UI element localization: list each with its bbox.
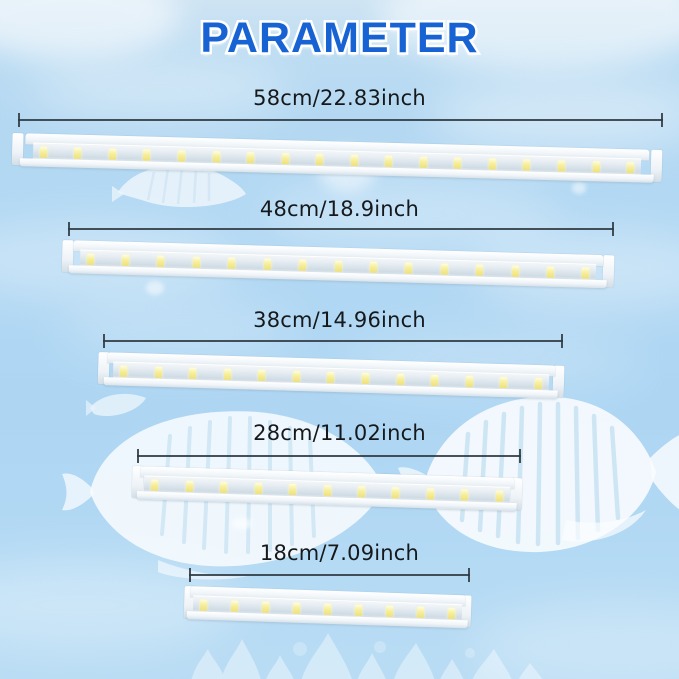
led-chip: [358, 486, 365, 497]
led-chip: [461, 489, 468, 500]
led-chip: [405, 263, 412, 274]
bracket-bar: [137, 455, 521, 457]
led-chip: [489, 158, 496, 169]
led-lamp-18cm: [183, 586, 471, 639]
led-chip: [157, 256, 164, 267]
led-chip: [289, 484, 296, 495]
bracket-cap-right: [612, 222, 614, 236]
led-chip: [592, 161, 599, 172]
led-lamp-58cm: [11, 133, 662, 194]
bracket-cap-right: [519, 449, 521, 463]
dimension-label-58cm: 58cm/22.83inch: [0, 86, 679, 110]
led-chip: [109, 149, 116, 160]
led-chip: [154, 367, 161, 378]
led-chip: [212, 151, 219, 162]
mounting-clamp-right: [498, 492, 530, 545]
mounting-clamp-left: [3, 147, 34, 200]
led-chip: [386, 606, 393, 617]
dimension-label-38cm: 38cm/14.96inch: [0, 308, 679, 332]
led-chip: [231, 601, 238, 612]
led-chip: [74, 148, 81, 159]
led-chip: [324, 604, 331, 615]
led-chip: [122, 255, 129, 266]
bracket-bar: [18, 119, 663, 121]
product-parameter-image: PARAMETER 58cm/22.83inch 4: [0, 0, 679, 679]
led-chip: [558, 160, 565, 171]
led-chip: [523, 159, 530, 170]
led-chip: [224, 369, 231, 380]
dimension-bracket-48cm: [68, 222, 614, 236]
led-chip: [627, 162, 634, 173]
led-chip: [417, 607, 424, 618]
led-chip: [431, 375, 438, 386]
dimension-label-48cm: 48cm/18.9inch: [0, 197, 679, 221]
page-title: PARAMETER: [0, 14, 679, 63]
led-chip: [355, 605, 362, 616]
led-chip: [258, 370, 265, 381]
led-chip: [370, 262, 377, 273]
led-chip: [255, 483, 262, 494]
led-chip: [264, 259, 271, 270]
led-chip: [178, 150, 185, 161]
bracket-cap-right: [561, 334, 563, 348]
led-chip: [420, 157, 427, 168]
led-chip: [441, 264, 448, 275]
led-chip: [385, 156, 392, 167]
led-chip: [334, 261, 341, 272]
led-chip: [327, 372, 334, 383]
led-chip: [351, 155, 358, 166]
mounting-clamp-left: [89, 366, 121, 419]
dimension-bracket-18cm: [189, 568, 470, 582]
bracket-cap-right: [661, 113, 663, 127]
led-chip: [582, 268, 589, 279]
mounting-clamp-left: [53, 254, 84, 307]
mounting-clamp-left: [123, 480, 155, 533]
led-chip: [228, 258, 235, 269]
led-chip: [262, 602, 269, 613]
led-chip: [87, 254, 94, 265]
led-chip: [396, 374, 403, 385]
led-chip: [193, 257, 200, 268]
bubble-shape: [232, 518, 252, 529]
bracket-bar: [68, 228, 614, 230]
led-chip: [362, 373, 369, 384]
led-chip: [299, 260, 306, 271]
led-chip: [247, 152, 254, 163]
led-lamp-38cm: [97, 352, 564, 410]
mounting-clamp-left: [175, 600, 207, 653]
led-chip: [293, 371, 300, 382]
dimension-label-28cm: 28cm/11.02inch: [0, 421, 679, 445]
dimension-bracket-58cm: [18, 113, 663, 127]
mounting-clamp-right: [447, 609, 479, 662]
dimension-label-18cm: 18cm/7.09inch: [0, 541, 679, 565]
led-chip: [454, 158, 461, 169]
led-chip: [427, 488, 434, 499]
led-chip: [293, 603, 300, 614]
led-chip: [323, 485, 330, 496]
bracket-cap-right: [468, 568, 470, 582]
cloud-shape: [470, 600, 679, 679]
led-chip: [281, 153, 288, 164]
led-chip: [220, 482, 227, 493]
led-lamp-48cm: [61, 240, 614, 299]
bracket-bar: [189, 574, 470, 576]
led-chip: [466, 376, 473, 387]
dimension-bracket-38cm: [103, 334, 563, 348]
led-lamp-28cm: [131, 466, 522, 522]
led-chip: [120, 366, 127, 377]
led-chip: [316, 154, 323, 165]
led-chip: [189, 368, 196, 379]
led-chip: [500, 377, 507, 388]
led-chip: [476, 265, 483, 276]
led-chip: [392, 487, 399, 498]
led-chip: [511, 266, 518, 277]
led-chip: [186, 481, 193, 492]
led-chip: [547, 267, 554, 278]
led-chip: [40, 147, 47, 158]
dimension-bracket-28cm: [137, 449, 521, 463]
led-chip: [143, 149, 150, 160]
bracket-bar: [103, 340, 563, 342]
